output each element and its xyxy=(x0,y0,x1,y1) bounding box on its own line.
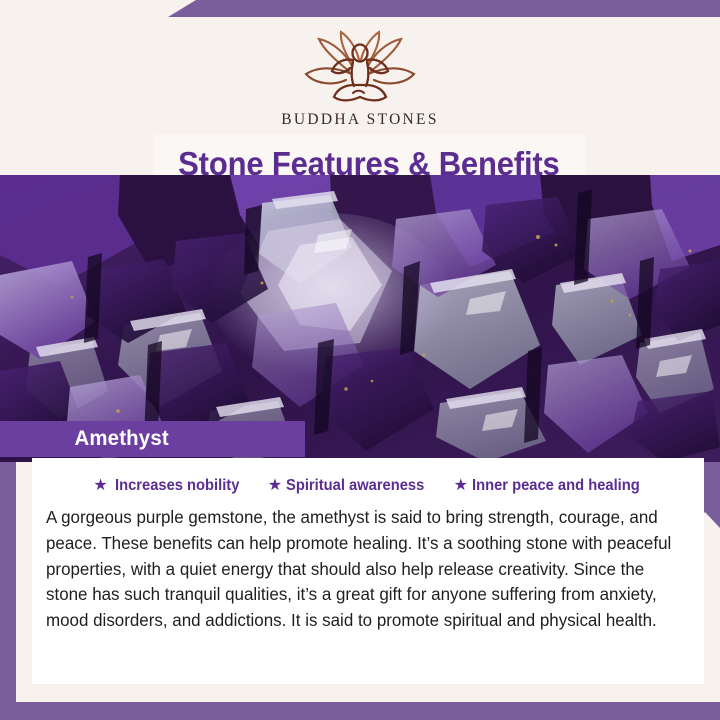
gemstone-image xyxy=(0,175,720,462)
feature-label: Increases nobility xyxy=(115,477,239,495)
lotus-meditation-icon xyxy=(289,27,431,109)
feature-label: Inner peace and healing xyxy=(472,477,640,495)
feature-item: ★ Spiritual awareness xyxy=(268,477,432,495)
star-icon: ★ xyxy=(454,478,468,494)
top-decorative-band xyxy=(0,0,720,17)
brand-logo: BUDDHA STONES xyxy=(16,27,704,129)
stone-name: Amethyst xyxy=(74,427,168,451)
bottom-decorative-border xyxy=(0,702,720,720)
star-icon: ★ xyxy=(268,478,282,494)
brand-name: BUDDHA STONES xyxy=(16,111,704,129)
feature-item: ★ Inner peace and healing xyxy=(454,477,649,495)
feature-list: ★ Increases nobility ★ Spiritual awarene… xyxy=(32,458,704,495)
description-panel: ★ Increases nobility ★ Spiritual awarene… xyxy=(32,458,704,684)
star-icon: ★ xyxy=(93,478,107,494)
content-card: BUDDHA STONES Stone Features & Benefits xyxy=(16,17,704,684)
feature-item: ★ Increases nobility xyxy=(93,477,245,495)
stone-name-bar: Amethyst xyxy=(0,421,305,457)
feature-label: Spiritual awareness xyxy=(286,477,424,495)
description-text: A gorgeous purple gemstone, the amethyst… xyxy=(46,505,674,634)
infographic-page: BUDDHA STONES Stone Features & Benefits xyxy=(0,0,720,720)
